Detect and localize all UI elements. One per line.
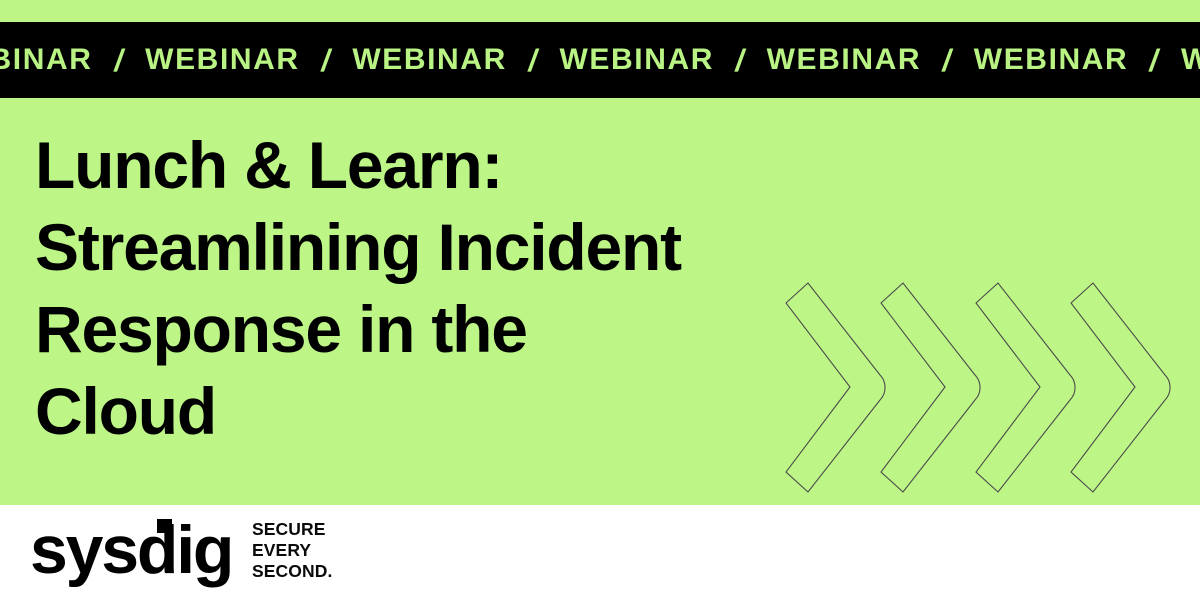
title-line: Lunch & Learn: (35, 124, 795, 206)
chevron-icon (881, 283, 980, 492)
svg-text:sysdig: sysdig (30, 513, 230, 588)
ticker-separator-icon: / (940, 45, 954, 76)
ticker-item: WEBINAR (352, 45, 507, 75)
ticker-item: WEBINAR (0, 45, 93, 75)
ticker-item: WEBINAR (1181, 45, 1200, 75)
tagline-line: SECOND. (252, 561, 332, 582)
webinar-title: Lunch & Learn: Streamlining Incident Res… (35, 124, 795, 452)
tagline-line: SECURE (252, 519, 332, 540)
title-line: Response in the (35, 288, 795, 370)
ticker-separator-icon: / (526, 45, 540, 76)
hero-panel: WEBINAR / WEBINAR / WEBINAR / WEBINAR / … (0, 0, 1200, 505)
ticker-separator-icon: / (112, 45, 126, 76)
tagline-line: EVERY (252, 540, 332, 561)
ticker-item: WEBINAR (559, 45, 714, 75)
chevron-icon (1071, 283, 1170, 492)
chevron-icon (976, 283, 1075, 492)
ticker-item: WEBINAR (145, 45, 300, 75)
ticker-track: WEBINAR / WEBINAR / WEBINAR / WEBINAR / … (0, 22, 1200, 98)
ticker-separator-icon: / (1148, 45, 1162, 76)
sysdig-wordmark-icon: sysdig (30, 513, 230, 596)
ticker-item: WEBINAR (767, 45, 922, 75)
ticker-separator-icon: / (319, 45, 333, 76)
title-line: Streamlining Incident (35, 206, 795, 288)
footer-logo-bar: sysdig SECURE EVERY SECOND. (0, 505, 1200, 600)
ticker-item: WEBINAR (974, 45, 1129, 75)
chevron-icon (786, 283, 885, 492)
sysdig-logo-lockup: sysdig SECURE EVERY SECOND. (30, 513, 332, 596)
ticker-separator-icon: / (733, 45, 747, 76)
webinar-ticker-band: WEBINAR / WEBINAR / WEBINAR / WEBINAR / … (0, 22, 1200, 98)
title-line: Cloud (35, 370, 795, 452)
promo-card-canvas: WEBINAR / WEBINAR / WEBINAR / WEBINAR / … (0, 0, 1200, 600)
chevron-decoration-group (780, 275, 1200, 500)
sysdig-tagline: SECURE EVERY SECOND. (252, 519, 332, 582)
